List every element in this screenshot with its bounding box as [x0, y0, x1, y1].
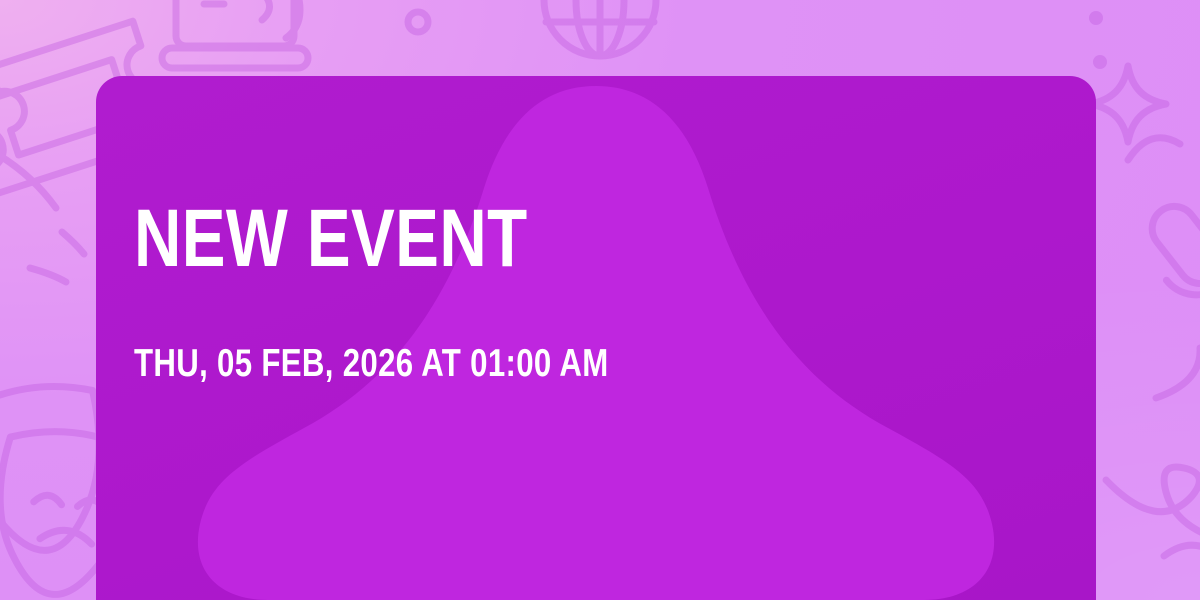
streamer-swirl-icon: [30, 232, 84, 282]
microphone-icon: [1131, 188, 1200, 329]
event-datetime: Thu, 05 Feb, 2026 at 01:00 AM: [134, 344, 609, 383]
event-card[interactable]: New Event Thu, 05 Feb, 2026 at 01:00 AM: [96, 76, 1096, 600]
streamer-swirl-icon: [1106, 348, 1200, 556]
laptop-icon: [162, 0, 308, 68]
event-title: New Event: [134, 198, 528, 280]
confetti-dot-icon: [408, 11, 1107, 69]
balloon-icon: [1128, 138, 1180, 160]
event-banner: New Event Thu, 05 Feb, 2026 at 01:00 AM: [0, 0, 1200, 600]
sparkle-icon: [1090, 66, 1166, 142]
globe-icon: [544, 0, 656, 56]
